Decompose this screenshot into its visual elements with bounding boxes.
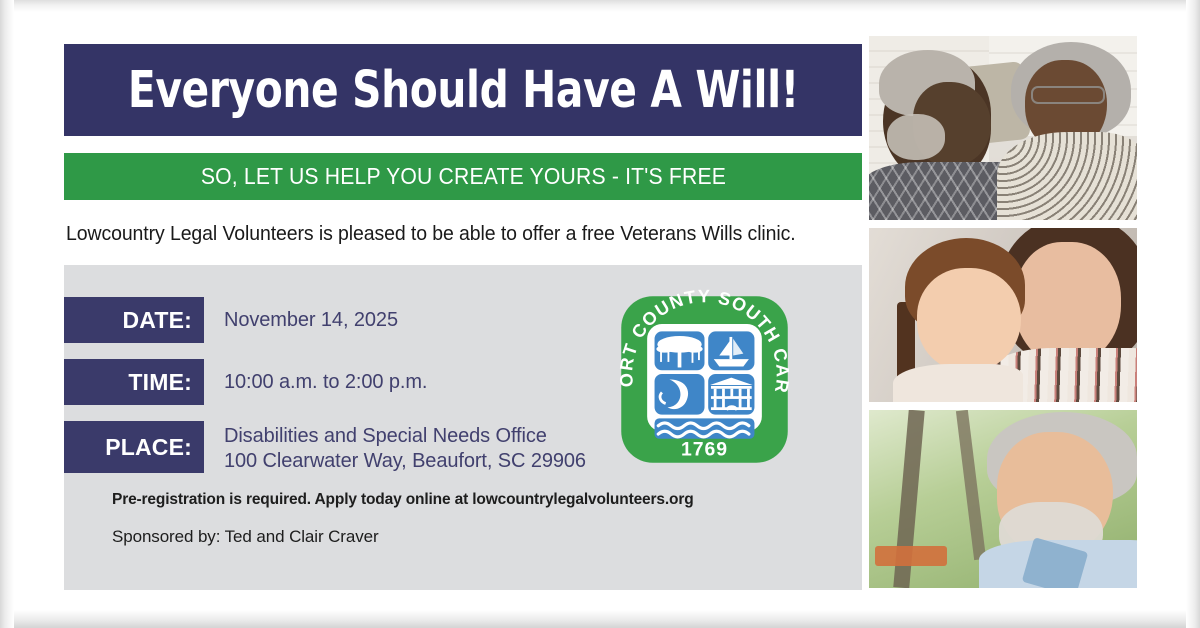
detail-value-time: 10:00 a.m. to 2:00 p.m. <box>224 359 427 395</box>
sponsor-note: Sponsored by: Ted and Clair Craver <box>112 527 812 547</box>
elderly-couple-photo <box>869 36 1137 220</box>
detail-row-date: DATE: November 14, 2025 <box>64 297 604 343</box>
detail-label-time: TIME: <box>64 359 204 405</box>
page-edge-bottom <box>0 610 1200 628</box>
page-edge-left <box>0 0 14 628</box>
detail-label-place: PLACE: <box>64 421 204 473</box>
main-content-column: Everyone Should Have A Will! SO, LET US … <box>64 44 862 590</box>
headline-text: Everyone Should Have A Will! <box>128 65 799 116</box>
event-details-list: DATE: November 14, 2025 TIME: 10:00 a.m.… <box>64 297 604 474</box>
mother-face-shape <box>1015 242 1121 364</box>
headline-bar: Everyone Should Have A Will! <box>64 44 862 136</box>
man-beard-shape <box>887 114 945 160</box>
event-details-panel: DATE: November 14, 2025 TIME: 10:00 a.m.… <box>64 265 862 590</box>
flyer-canvas: Everyone Should Have A Will! SO, LET US … <box>0 0 1200 628</box>
subheadline-text: SO, LET US HELP YOU CREATE YOURS - IT'S … <box>200 163 725 190</box>
notes-block: Pre-registration is required. Apply toda… <box>112 491 812 547</box>
photo-column <box>869 36 1137 588</box>
child-face-shape <box>917 268 1021 372</box>
beaufort-county-seal-icon: BEAUFORT COUNTY SOUTH CAROLINA 1769 <box>612 287 797 472</box>
elderly-man-photo <box>869 410 1137 588</box>
building-roof-shape <box>875 546 947 566</box>
detail-row-time: TIME: 10:00 a.m. to 2:00 p.m. <box>64 359 604 405</box>
pre-registration-note: Pre-registration is required. Apply toda… <box>112 491 812 509</box>
intro-paragraph: Lowcountry Legal Volunteers is pleased t… <box>66 222 822 246</box>
seal-year-text: 1769 <box>681 438 728 460</box>
child-shirt-shape <box>893 364 1023 402</box>
woman-glasses-shape <box>1031 86 1105 104</box>
detail-row-place: PLACE: Disabilities and Special Needs Of… <box>64 421 604 474</box>
detail-value-place: Disabilities and Special Needs Office 10… <box>224 421 586 474</box>
detail-label-date: DATE: <box>64 297 204 343</box>
page-edge-right <box>1186 0 1200 628</box>
detail-value-date: November 14, 2025 <box>224 297 398 333</box>
mother-and-son-photo <box>869 228 1137 402</box>
subheadline-bar: SO, LET US HELP YOU CREATE YOURS - IT'S … <box>64 153 862 200</box>
page-edge-top <box>0 0 1200 12</box>
woman-blouse-shape <box>997 132 1137 220</box>
